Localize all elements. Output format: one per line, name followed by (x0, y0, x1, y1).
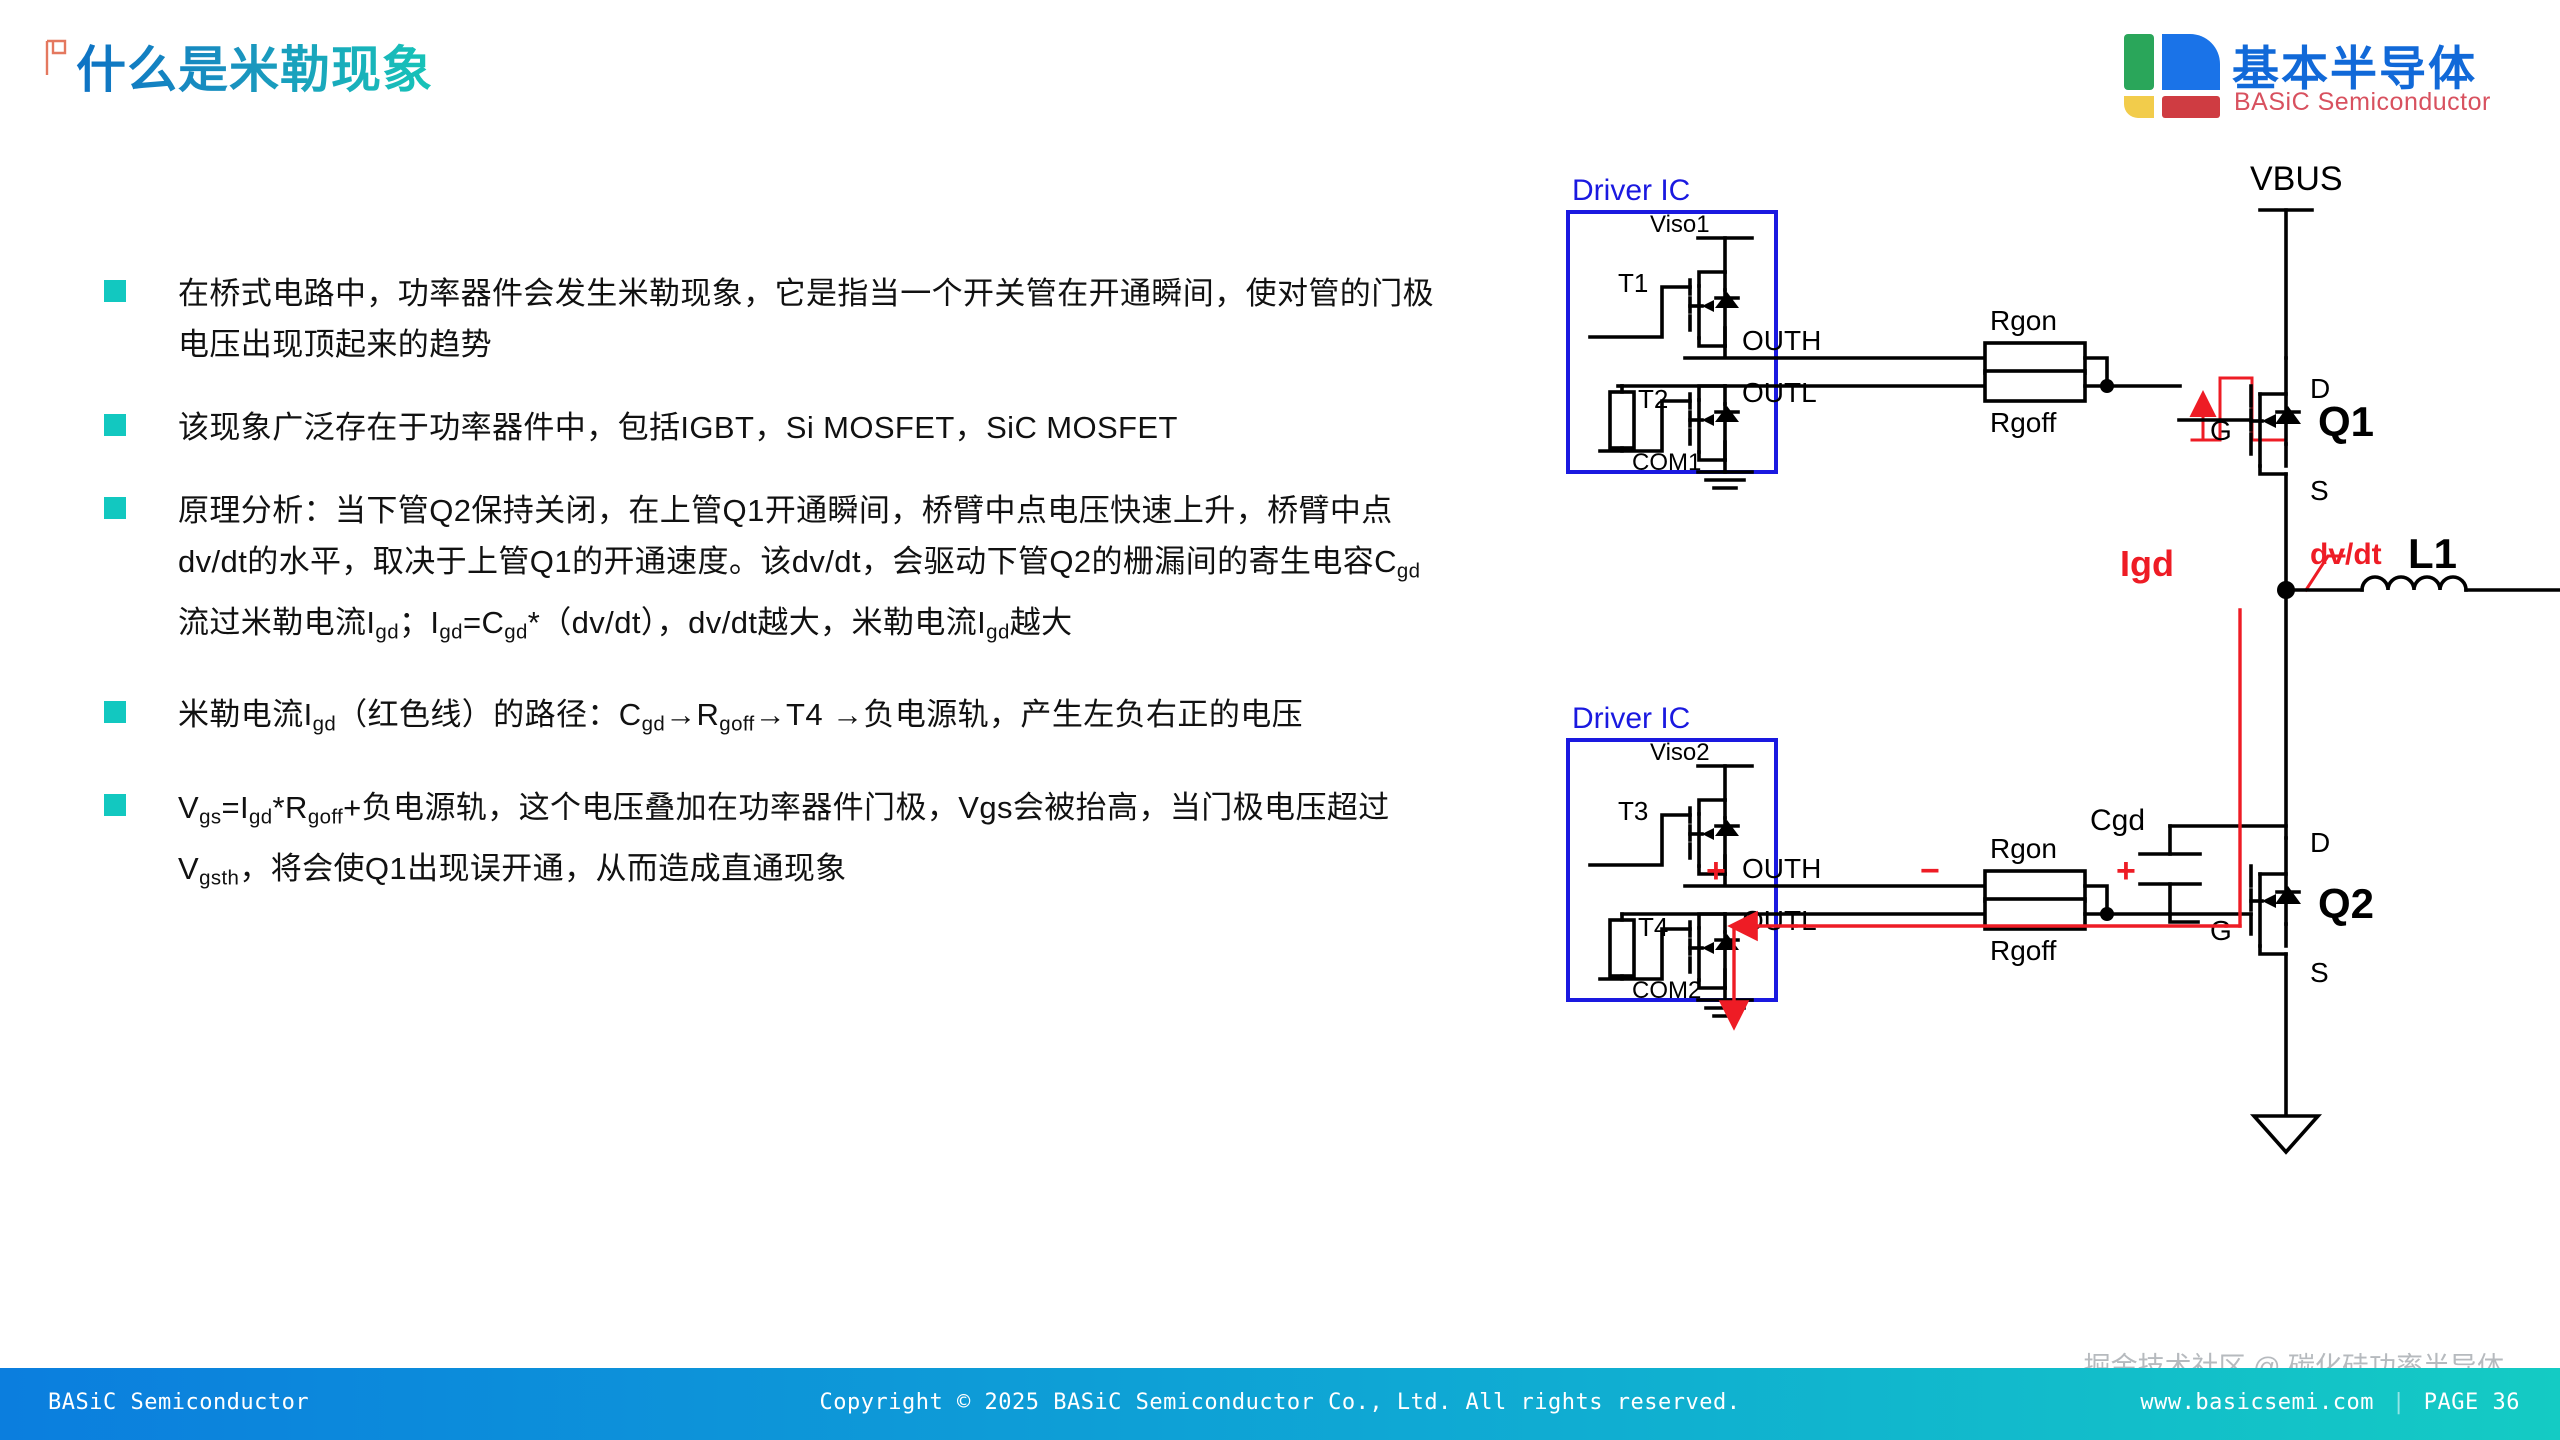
list-item: 该现象广泛存在于功率器件中，包括IGBT，Si MOSFET，SiC MOSFE… (104, 402, 1504, 453)
list-item: 在桥式电路中，功率器件会发生米勒现象，它是指当一个开关管在开通瞬间，使对管的门极… (104, 268, 1504, 370)
bullet-text: 该现象广泛存在于功率器件中，包括IGBT，Si MOSFET，SiC MOSFE… (178, 402, 1178, 453)
footer-bar: BASiC Semiconductor Copyright © 2025 BAS… (0, 1368, 2560, 1440)
t2-label: T2 (1638, 384, 1668, 414)
list-item: Vgs=Igd*Rgoff+负电源轨，这个电压叠加在功率器件门极，Vgs会被抬高… (104, 782, 1504, 903)
rgoff-label-bottom: Rgoff (1990, 935, 2057, 966)
igd-label: Igd (2120, 543, 2174, 584)
footer-website[interactable]: www.basicsemi.com (2140, 1390, 2374, 1415)
bullet-marker-icon (104, 414, 126, 436)
footer-meta: www.basicsemi.com | PAGE 36 (2140, 1390, 2520, 1415)
q1-label: Q1 (2318, 398, 2374, 445)
bullet-list: 在桥式电路中，功率器件会发生米勒现象，它是指当一个开关管在开通瞬间，使对管的门极… (104, 268, 1504, 936)
q2-label: Q2 (2318, 880, 2374, 927)
polarity-plus-right: + (2116, 852, 2136, 890)
l1-label: L1 (2408, 530, 2457, 577)
footer-page-number: PAGE 36 (2424, 1390, 2520, 1415)
bullet-text: Vgs=Igd*Rgoff+负电源轨，这个电压叠加在功率器件门极，Vgs会被抬高… (178, 782, 1448, 903)
list-item: 原理分析：当下管Q2保持关闭，在上管Q1开通瞬间，桥臂中点电压快速上升，桥臂中点… (104, 485, 1504, 657)
driver-ic-label-top: Driver IC (1572, 174, 1690, 207)
rgoff-label-top: Rgoff (1990, 407, 2057, 438)
q1-source-label: S (2310, 475, 2329, 506)
rgon-label-bottom: Rgon (1990, 833, 2057, 864)
circuit-diagram: Driver IC Viso1 T1 OUTH T2 OUTL COM1 Rgo… (1520, 140, 2560, 1320)
polarity-plus-left: + (1706, 852, 1726, 890)
polarity-minus-mid: − (1920, 852, 1940, 890)
quote-mark-icon (44, 38, 70, 80)
com2-label: COM2 (1632, 977, 1701, 1004)
outh-label-bottom: OUTH (1742, 853, 1821, 884)
outl-label-bottom: OUTL (1742, 905, 1817, 936)
logo-mark-icon (2124, 34, 2220, 118)
q2-source-label: S (2310, 957, 2329, 988)
outl-label-top: OUTL (1742, 377, 1817, 408)
logo-english-name: BASiC Semiconductor (2234, 88, 2491, 117)
bullet-marker-icon (104, 701, 126, 723)
t3-label: T3 (1618, 796, 1648, 826)
q1-gate-label: G (2210, 415, 2232, 446)
t1-label: T1 (1618, 268, 1648, 298)
bullet-text: 原理分析：当下管Q2保持关闭，在上管Q1开通瞬间，桥臂中点电压快速上升，桥臂中点… (178, 485, 1448, 657)
q2-drain-label: D (2310, 827, 2330, 858)
page-title: 什么是米勒现象 (76, 30, 433, 102)
footer-separator: | (2392, 1390, 2406, 1415)
viso2-label: Viso2 (1650, 739, 1710, 766)
list-item: 米勒电流Igd（红色线）的路径：Cgd→Rgoff→T4 →负电源轨，产生左负右… (104, 689, 1504, 750)
t4-label: T4 (1638, 912, 1668, 942)
outh-label-top: OUTH (1742, 325, 1821, 356)
bullet-text: 米勒电流Igd（红色线）的路径：Cgd→Rgoff→T4 →负电源轨，产生左负右… (178, 689, 1303, 750)
bullet-text: 在桥式电路中，功率器件会发生米勒现象，它是指当一个开关管在开通瞬间，使对管的门极… (178, 268, 1448, 370)
bullet-marker-icon (104, 497, 126, 519)
rgon-label-top: Rgon (1990, 305, 2057, 336)
vbus-label: VBUS (2250, 160, 2343, 198)
company-logo: 基本半导体 BASiC Semiconductor (2124, 26, 2524, 124)
driver-ic-label-bottom: Driver IC (1572, 702, 1690, 735)
bullet-marker-icon (104, 280, 126, 302)
q2-gate-label: G (2210, 915, 2232, 946)
bullet-marker-icon (104, 794, 126, 816)
cgd-label: Cgd (2090, 804, 2145, 837)
viso1-label: Viso1 (1650, 211, 1710, 238)
com1-label: COM1 (1632, 449, 1701, 476)
